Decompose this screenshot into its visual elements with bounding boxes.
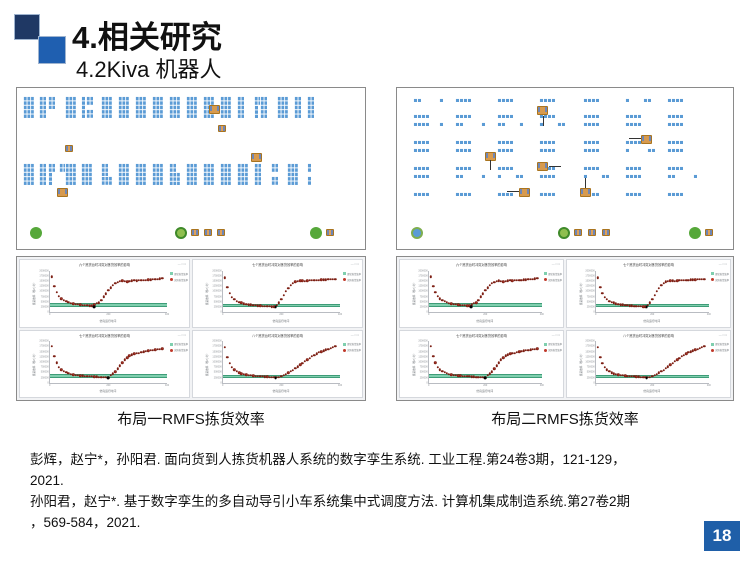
shelf-block: [625, 98, 629, 102]
shelf-block: [101, 163, 108, 176]
chart-y-tick-label: 750000: [587, 366, 595, 369]
chart-data-point: [495, 365, 497, 367]
chart-data-point: [114, 370, 116, 372]
chart-y-tick-label: 1750000: [39, 345, 48, 348]
chart-y-tick-label: 1750000: [212, 274, 221, 277]
shelf-block: [271, 176, 278, 185]
chart-legend-entry: 实际拣货效率: [711, 278, 729, 282]
shelf-block: [539, 98, 555, 102]
shelf-block: [413, 140, 429, 144]
chart-y-tick-label: 1500000: [418, 280, 427, 283]
chart-data-point: [224, 276, 226, 278]
chart-data-point: [304, 360, 306, 362]
caption-layout-1: 布局一RMFS拣货效率: [16, 408, 366, 429]
chart-cluster-layout-2: 六个拣货台时冲突对拣货效率的影响— □ ×拣货效率（件/小时）仿真运行时间200…: [396, 256, 734, 401]
chart-y-tick-label: 2000000: [39, 269, 48, 272]
legend-swatch-actual: [544, 349, 547, 352]
shelf-block: [497, 98, 513, 102]
chart-y-tick-label: 1750000: [418, 345, 427, 348]
chart-data-point: [126, 356, 128, 358]
shelf-block: [101, 176, 112, 185]
chart-legend-label: 理论拣货效率: [715, 272, 729, 276]
chart-data-point: [110, 286, 112, 288]
chart-data-point: [229, 292, 231, 294]
chart-data-point: [100, 299, 102, 301]
chart-data-point: [119, 365, 121, 367]
chart-y-tick-label: 250000: [214, 376, 222, 379]
chart-x-tick-label: 0: [49, 384, 50, 387]
shelf-block: [118, 96, 129, 118]
chart-y-tick-label: 1000000: [212, 290, 221, 293]
chart-data-point: [301, 362, 303, 364]
shelf-block: [539, 174, 555, 178]
chart-data-point: [53, 285, 55, 287]
theoretical-efficiency-baseline: [50, 303, 167, 307]
chart-x-tick-label: 400: [540, 313, 544, 316]
chart-data-point: [493, 368, 495, 370]
chart-minimum-marker: [645, 306, 648, 309]
shelf-block: [118, 163, 129, 185]
shelf-block: [693, 174, 697, 178]
chart-legend-entry: 实际拣货效率: [170, 278, 188, 282]
chart-x-tick-label: 0: [222, 313, 223, 316]
chart-data-point: [102, 295, 104, 297]
chart-legend-entry: 实际拣货效率: [711, 348, 729, 352]
chart-legend-label: 理论拣货效率: [347, 272, 361, 276]
chart-panel: 七个拣货台时冲突对拣货效率的影响— □ ×拣货效率（件/小时）仿真运行时间200…: [192, 259, 363, 328]
shelf-block: [455, 140, 471, 144]
chart-title: 八个拣货台时冲突对拣货效率的影响: [193, 333, 362, 338]
chart-panel: 六个拣货台时冲突对拣货效率的影响— □ ×拣货效率（件/小时）仿真运行时间200…: [399, 259, 564, 328]
legend-swatch-theoretical: [544, 272, 547, 275]
chart-y-tick-label: 1500000: [39, 350, 48, 353]
robot-carrying-pod: [537, 106, 548, 115]
chart-y-tick-label: 500000: [587, 371, 595, 374]
robot: [574, 229, 582, 236]
chart-x-tick-label: 200: [650, 384, 654, 387]
robot-direction-arrow: [543, 116, 544, 126]
chart-data-point: [124, 359, 126, 361]
chart-data-point: [107, 289, 109, 291]
shelf-block: [277, 96, 288, 118]
chart-x-tick-label: 400: [338, 384, 342, 387]
chart-legend-entry: 理论拣货效率: [170, 342, 188, 346]
chart-y-tick-label: 1000000: [39, 360, 48, 363]
chart-y-tick-label: 1500000: [39, 280, 48, 283]
chart-data-point: [484, 289, 486, 291]
shelf-block: [667, 174, 675, 178]
chart-data-point: [434, 362, 436, 364]
shelf-block: [455, 122, 463, 126]
robot-carrying-pod: [251, 153, 262, 162]
shelf-block: [481, 174, 485, 178]
chart-legend-entry: 理论拣货效率: [711, 342, 729, 346]
shelf-block: [48, 163, 55, 172]
chart-title: 八个拣货台时冲突对拣货效率的影响: [567, 333, 730, 338]
chart-data-point: [287, 287, 289, 289]
chart-data-point: [676, 358, 678, 360]
shelf-block: [413, 148, 429, 152]
chart-legend-label: 理论拣货效率: [548, 272, 562, 276]
shelf-block: [39, 96, 46, 118]
picking-station: [310, 227, 322, 239]
shelf-block: [497, 148, 513, 152]
legend-swatch-theoretical: [343, 343, 346, 346]
chart-plot-area: 2000000175000015000001250000100000075000…: [595, 341, 709, 384]
shelf-block: [271, 163, 278, 172]
chart-legend-entry: 理论拣货效率: [544, 342, 562, 346]
chart-window-controls: — □ ×: [552, 333, 560, 337]
shelf-block: [254, 163, 261, 185]
chart-data-point: [56, 362, 58, 364]
chart-y-tick-label: 1500000: [585, 280, 594, 283]
chart-data-point: [51, 345, 53, 347]
chart-y-axis-label: 拣货效率（件/小时）: [579, 352, 583, 376]
shelf-block: [497, 122, 505, 126]
chart-data-point: [491, 370, 493, 372]
shelf-block: [186, 96, 197, 118]
shelf-block: [667, 192, 683, 196]
chart-window-controls: — □ ×: [351, 262, 359, 266]
shelf-block: [23, 163, 34, 185]
shelf-block: [647, 148, 655, 152]
chart-x-axis-label: 仿真运行时间: [49, 389, 167, 393]
chart-y-tick-label: 2000000: [585, 340, 594, 343]
shelf-block: [220, 96, 231, 118]
shelf-block: [65, 96, 76, 118]
chart-y-tick-label: 1250000: [418, 285, 427, 288]
chart-y-axis-label: 拣货效率（件/小时）: [32, 352, 36, 376]
chart-title: 七个拣货台时冲突对拣货效率的影响: [193, 262, 362, 267]
legend-swatch-actual: [711, 349, 714, 352]
chart-legend: 理论拣货效率实际拣货效率: [170, 272, 188, 282]
deco-square-dark: [14, 14, 40, 40]
chart-data-point: [653, 294, 655, 296]
chart-y-tick-label: 500000: [41, 371, 49, 374]
chart-x-tick-label: 400: [707, 384, 711, 387]
chart-y-tick-label: 2000000: [585, 269, 594, 272]
shelf-block: [625, 166, 641, 170]
chart-data-point: [434, 291, 436, 293]
shelf-block: [539, 192, 555, 196]
shelf-block: [455, 148, 471, 152]
chart-x-axis-label: 仿真运行时间: [595, 389, 709, 393]
chart-y-axis-label: 拣货效率（件/小时）: [32, 281, 36, 305]
chart-x-tick-label: 0: [428, 313, 429, 316]
shelf-block: [101, 96, 112, 118]
robot: [191, 229, 199, 236]
chart-plot-area: 2000000175000015000001250000100000075000…: [49, 341, 167, 384]
shelf-block: [625, 192, 641, 196]
chart-data-point: [502, 356, 504, 358]
chart-y-tick-label: 2000000: [212, 340, 221, 343]
chart-data-point: [480, 295, 482, 297]
reference-line: 孙阳君，赵宁*. 基于数字孪生的多自动导引小车系统集中式调度方法. 计算机集成制…: [30, 491, 720, 512]
shelf-block: [413, 122, 421, 126]
chart-data-point: [290, 284, 292, 286]
shelf-block: [601, 174, 609, 178]
legend-swatch-theoretical: [544, 343, 547, 346]
shelf-block: [260, 96, 267, 118]
shelf-block: [237, 163, 248, 185]
chart-plot-area: 2000000175000015000001250000100000075000…: [222, 271, 340, 314]
legend-swatch-theoretical: [711, 343, 714, 346]
shelf-block: [515, 174, 523, 178]
chart-y-tick-label: 250000: [420, 306, 428, 309]
chart-data-point: [285, 290, 287, 292]
chart-y-tick-label: 1250000: [212, 355, 221, 358]
chart-data-point: [665, 367, 667, 369]
shelf-block: [413, 114, 429, 118]
chart-legend-entry: 理论拣货效率: [343, 342, 361, 346]
chart-y-tick-label: 1000000: [418, 360, 427, 363]
chart-data-point: [117, 368, 119, 370]
shelf-block: [39, 163, 46, 185]
warehouse-layout-2-figure: [396, 87, 734, 250]
legend-swatch-actual: [170, 349, 173, 352]
chart-y-tick-label: 500000: [214, 300, 222, 303]
chart-y-tick-label: 2000000: [39, 340, 48, 343]
chart-y-axis-label: 拣货效率（件/小时）: [579, 281, 583, 305]
chart-minimum-marker: [470, 305, 473, 308]
page-title: 4.相关研究: [72, 12, 222, 57]
robot-carrying-pod: [209, 105, 220, 114]
shelf-block: [307, 176, 311, 185]
shelf-block: [152, 163, 163, 185]
chart-data-point: [489, 284, 491, 286]
chart-panel: 八个拣货台时冲突对拣货效率的影响— □ ×拣货效率（件/小时）仿真运行时间200…: [192, 330, 363, 399]
deco-square-bright: [38, 36, 66, 64]
chart-legend: 理论拣货效率实际拣货效率: [343, 342, 361, 352]
chart-data-point: [430, 345, 432, 347]
chart-legend-label: 实际拣货效率: [174, 348, 188, 352]
theoretical-efficiency-baseline: [596, 304, 709, 308]
shelf-block: [23, 96, 34, 118]
chart-data-point: [597, 276, 599, 278]
shelf-block: [455, 98, 471, 102]
chart-x-tick-label: 200: [483, 313, 487, 316]
chart-data-point: [432, 285, 434, 287]
chart-legend-label: 实际拣货效率: [548, 348, 562, 352]
shelf-block: [455, 192, 471, 196]
legend-swatch-theoretical: [711, 272, 714, 275]
robot: [602, 229, 610, 236]
shelf-block: [625, 148, 629, 152]
chart-window-controls: — □ ×: [719, 333, 727, 337]
shelf-block: [307, 96, 314, 118]
chart-data-point: [161, 348, 163, 350]
caption-layout-2: 布局二RMFS拣货效率: [396, 408, 734, 429]
page-number-badge: 18: [704, 521, 740, 551]
chart-y-tick-label: 1250000: [212, 285, 221, 288]
chart-x-tick-label: 0: [595, 313, 596, 316]
chart-y-axis-label: 拣货效率（件/小时）: [412, 281, 416, 305]
chart-legend-label: 理论拣货效率: [548, 342, 562, 346]
shelf-block: [583, 98, 599, 102]
chart-panel: 七个拣货台时冲突对拣货效率的影响— □ ×拣货效率（件/小时）仿真运行时间200…: [19, 330, 190, 399]
legend-swatch-actual: [343, 278, 346, 281]
chart-title: 七个拣货台时冲突对拣货效率的影响: [20, 333, 189, 338]
chart-legend-entry: 实际拣货效率: [544, 348, 562, 352]
warehouse-layout-1-canvas: [17, 88, 365, 249]
chart-legend-entry: 理论拣货效率: [170, 272, 188, 276]
chart-y-tick-label: 1750000: [585, 274, 594, 277]
robot-carrying-pod: [537, 162, 548, 171]
shelf-block: [625, 122, 641, 126]
chart-data-point: [283, 294, 285, 296]
chart-panel: 七个拣货台时冲突对拣货效率的影响— □ ×拣货效率（件/小时）仿真运行时间200…: [566, 259, 731, 328]
chart-legend-label: 理论拣货效率: [174, 272, 188, 276]
chart-data-point: [112, 284, 114, 286]
robot: [588, 229, 596, 236]
chart-y-tick-label: 250000: [587, 306, 595, 309]
chart-data-point: [674, 360, 676, 362]
legend-swatch-actual: [343, 349, 346, 352]
shelf-block: [413, 166, 429, 170]
chart-data-point: [656, 290, 658, 292]
shelf-block: [625, 174, 641, 178]
chart-y-tick-label: 750000: [420, 295, 428, 298]
chart-y-tick-label: 2000000: [418, 340, 427, 343]
chart-data-point: [226, 286, 228, 288]
chart-y-tick-label: 1250000: [39, 285, 48, 288]
chart-y-tick-label: 1500000: [418, 350, 427, 353]
chart-title: 七个拣货台时冲突对拣货效率的影响: [400, 333, 563, 338]
chart-y-tick-label: 1500000: [585, 350, 594, 353]
chart-x-axis-label: 仿真运行时间: [222, 319, 340, 323]
chart-plot-area: 2000000175000015000001250000100000075000…: [49, 271, 167, 314]
chart-data-point: [334, 345, 336, 347]
chart-legend-entry: 实际拣货效率: [343, 278, 361, 282]
shelf-block: [539, 148, 555, 152]
shelf-block: [557, 122, 565, 126]
chart-data-point: [306, 358, 308, 360]
robot-direction-arrow: [549, 166, 561, 167]
chart-y-tick-label: 1500000: [212, 280, 221, 283]
chart-y-tick-label: 1000000: [585, 360, 594, 363]
chart-y-tick-label: 1250000: [39, 355, 48, 358]
shelf-block: [667, 166, 683, 170]
chart-minimum-marker: [274, 306, 277, 309]
shelf-block: [294, 96, 301, 118]
chart-x-tick-label: 400: [540, 384, 544, 387]
chart-y-tick-label: 500000: [41, 300, 49, 303]
page-subtitle: 4.2Kiva 机器人: [76, 52, 222, 84]
chart-y-tick-label: 250000: [587, 376, 595, 379]
chart-x-tick-label: 0: [595, 384, 596, 387]
shelf-block: [307, 163, 311, 172]
chart-legend-entry: 实际拣货效率: [544, 278, 562, 282]
chart-data-point: [667, 365, 669, 367]
chart-data-point: [651, 298, 653, 300]
chart-legend: 理论拣货效率实际拣货效率: [170, 342, 188, 352]
shelf-block: [439, 122, 443, 126]
chart-panel: 六个拣货台时冲突对拣货效率的影响— □ ×拣货效率（件/小时）仿真运行时间200…: [19, 259, 190, 328]
chart-x-axis-label: 仿真运行时间: [49, 319, 167, 323]
chart-data-point: [161, 277, 163, 279]
chart-cluster-layout-1: 六个拣货台时冲突对拣货效率的影响— □ ×拣货效率（件/小时）仿真运行时间200…: [16, 256, 366, 401]
shelf-block: [455, 174, 463, 178]
chart-y-tick-label: 1750000: [585, 345, 594, 348]
chart-x-tick-label: 400: [707, 313, 711, 316]
chart-data-point: [601, 292, 603, 294]
shelf-block: [135, 163, 146, 185]
legend-swatch-actual: [170, 278, 173, 281]
chart-x-tick-label: 200: [279, 313, 283, 316]
shelf-block: [583, 114, 599, 118]
picking-station: [689, 227, 701, 239]
legend-swatch-theoretical: [343, 272, 346, 275]
chart-panel: 八个拣货台时冲突对拣货效率的影响— □ ×拣货效率（件/小时）仿真运行时间200…: [566, 330, 731, 399]
chart-x-tick-label: 200: [279, 384, 283, 387]
chart-y-tick-label: 1000000: [585, 290, 594, 293]
references-block: 彭辉，赵宁*，孙阳君. 面向货到人拣货机器人系统的数字孪生系统. 工业工程.第2…: [30, 449, 720, 533]
shelf-block: [455, 166, 471, 170]
picking-station: [30, 227, 42, 239]
chart-data-point: [597, 346, 599, 348]
shelf-block: [643, 98, 651, 102]
chart-legend-label: 理论拣货效率: [715, 342, 729, 346]
shelf-block: [65, 163, 76, 185]
legend-swatch-theoretical: [170, 272, 173, 275]
shelf-block: [413, 174, 429, 178]
chart-data-point: [105, 292, 107, 294]
chart-window-controls: — □ ×: [552, 262, 560, 266]
chart-legend: 理论拣货效率实际拣货效率: [544, 272, 562, 282]
robot: [217, 229, 225, 236]
chart-y-tick-label: 750000: [214, 295, 222, 298]
shelf-block: [583, 148, 599, 152]
chart-legend-label: 实际拣货效率: [548, 278, 562, 282]
shelf-block: [497, 140, 513, 144]
robot: [65, 145, 73, 152]
chart-plot-area: 2000000175000015000001250000100000075000…: [428, 271, 542, 314]
shelf-block: [497, 174, 501, 178]
shelf-block: [625, 140, 641, 144]
chart-legend: 理论拣货效率实际拣货效率: [544, 342, 562, 352]
chart-x-tick-label: 200: [650, 313, 654, 316]
robot-carrying-pod: [519, 188, 530, 197]
chart-window-controls: — □ ×: [351, 333, 359, 337]
shelf-block: [497, 192, 513, 196]
robot-carrying-pod: [641, 135, 652, 144]
chart-x-tick-label: 0: [428, 384, 429, 387]
chart-x-tick-label: 200: [106, 384, 110, 387]
chart-legend-label: 理论拣货效率: [347, 342, 361, 346]
chart-plot-area: 2000000175000015000001250000100000075000…: [222, 341, 340, 384]
shelf-block: [86, 109, 93, 118]
chart-legend-label: 理论拣货效率: [174, 342, 188, 346]
chart-y-tick-label: 500000: [587, 300, 595, 303]
shelf-block: [413, 98, 421, 102]
chart-data-point: [121, 362, 123, 364]
chart-data-point: [599, 356, 601, 358]
chart-legend: 理论拣货效率实际拣货效率: [711, 342, 729, 352]
chart-data-point: [53, 355, 55, 357]
chart-window-controls: — □ ×: [178, 262, 186, 266]
shelf-block: [413, 192, 429, 196]
chart-y-tick-label: 250000: [214, 306, 222, 309]
chart-legend-label: 实际拣货效率: [715, 348, 729, 352]
chart-data-point: [229, 362, 231, 364]
legend-swatch-theoretical: [170, 343, 173, 346]
shelf-block: [583, 166, 599, 170]
chart-data-point: [500, 359, 502, 361]
chart-legend-label: 实际拣货效率: [715, 278, 729, 282]
header-decoration: [14, 14, 72, 66]
legend-swatch-actual: [711, 278, 714, 281]
shelf-block: [203, 163, 214, 185]
